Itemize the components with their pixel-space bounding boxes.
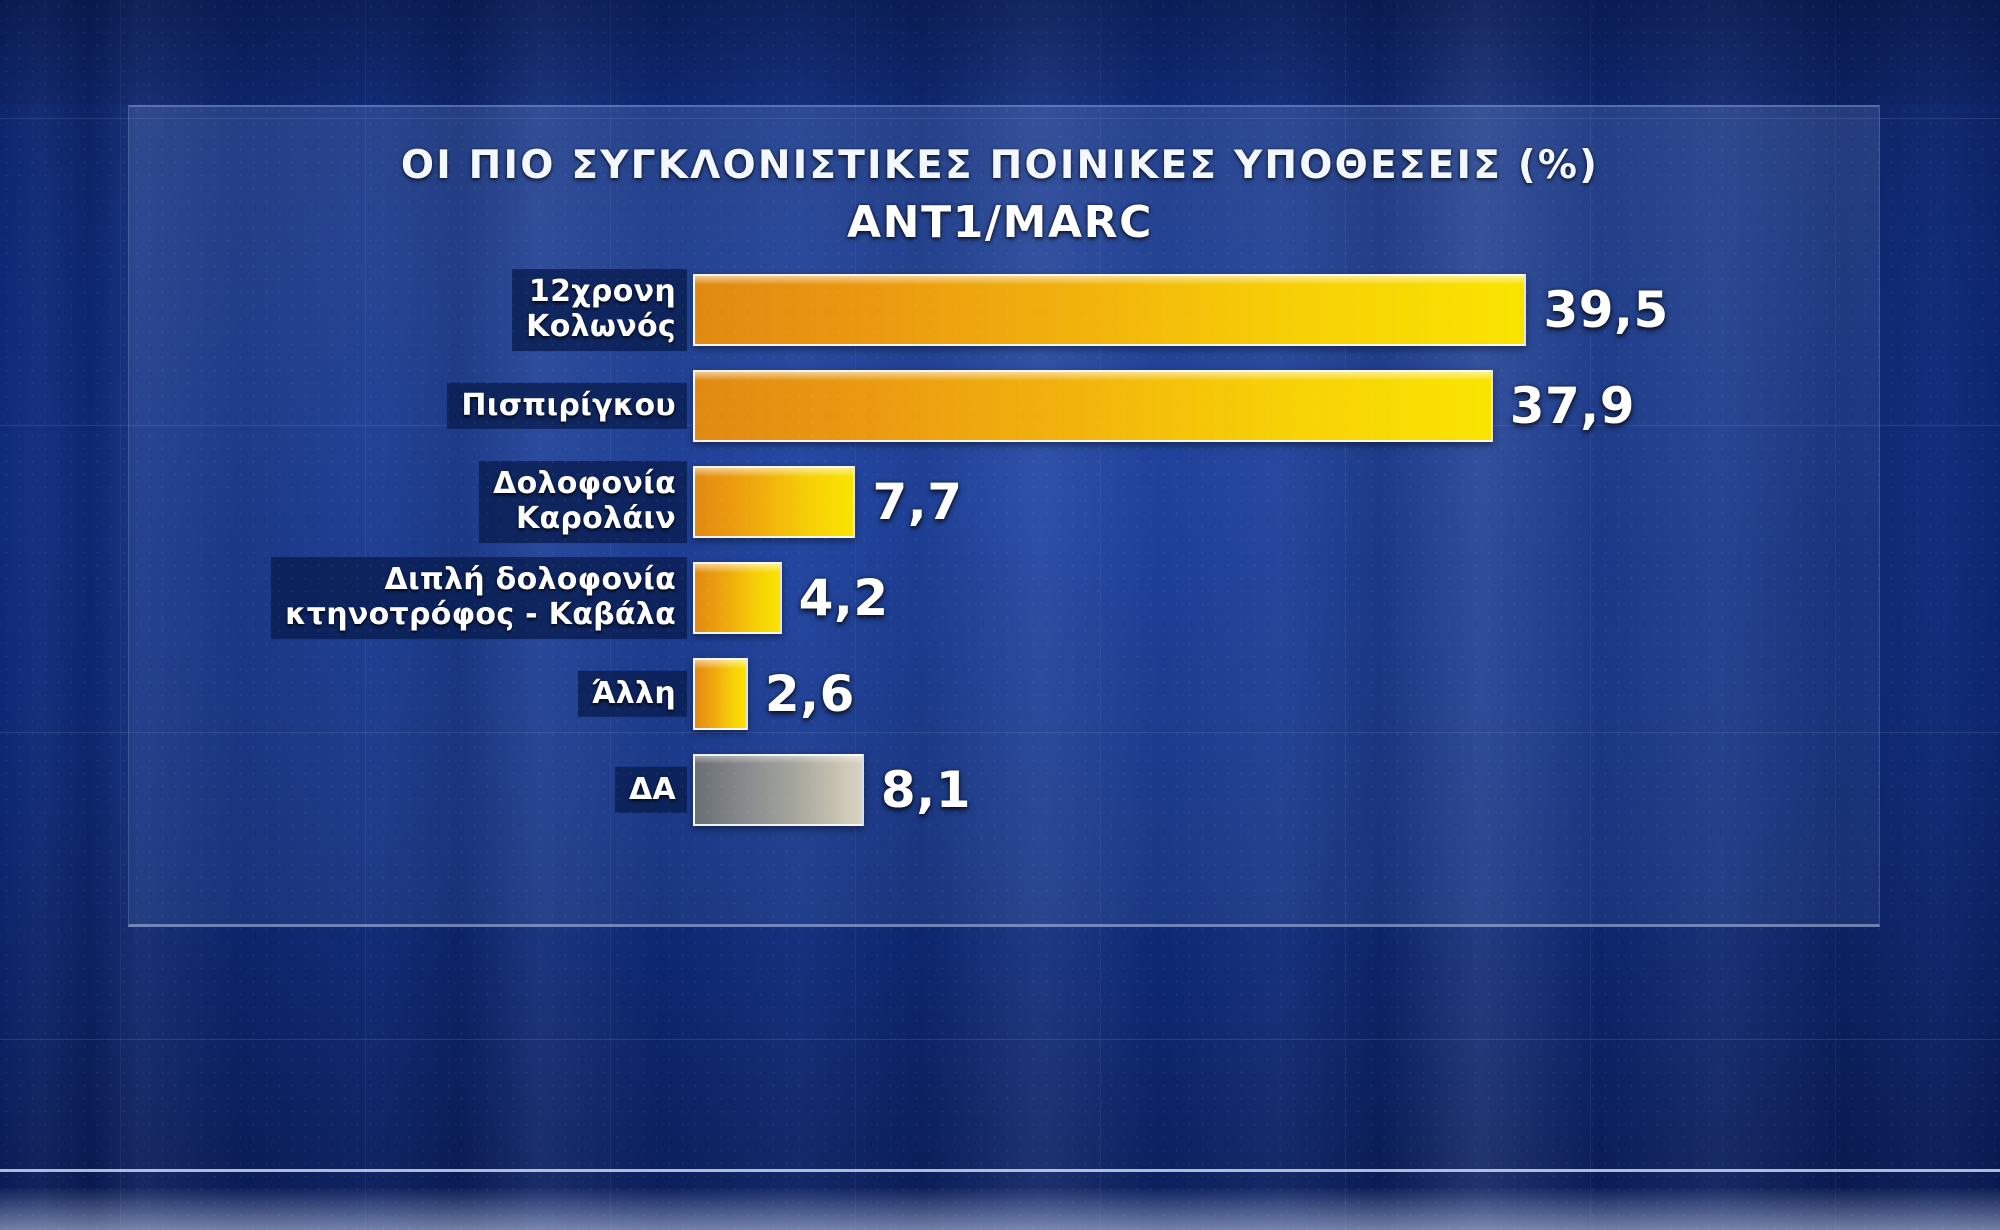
- bar-row: Άλλη 2,6: [0, 646, 2000, 742]
- bar-chart: ΟΙ ΠΙΟ ΣΥΓΚΛΟΝΙΣΤΙΚΕΣ ΠΟΙΝΙΚΕΣ ΥΠΟΘΕΣΕΙΣ…: [0, 0, 2000, 1230]
- bar-track: 4,2: [693, 550, 889, 646]
- chart-title: ΟΙ ΠΙΟ ΣΥΓΚΛΟΝΙΣΤΙΚΕΣ ΠΟΙΝΙΚΕΣ ΥΠΟΘΕΣΕΙΣ…: [0, 143, 2000, 188]
- bar-track: 37,9: [693, 358, 1635, 454]
- bar-fill: [693, 562, 782, 634]
- bar-track: 8,1: [693, 742, 971, 838]
- bar-value-label: 4,2: [799, 569, 889, 627]
- bar-row: Διπλή δολοφονία κτηνοτρόφος - Καβάλα 4,2: [0, 550, 2000, 646]
- bar-value-label: 7,7: [872, 473, 962, 531]
- bar-value-label: 39,5: [1543, 281, 1668, 339]
- bar-category-label: Πισπιρίγκου: [447, 383, 687, 429]
- bar-category-label: Δολοφονία Καρολάιν: [479, 461, 687, 543]
- bar-fill: [693, 754, 864, 826]
- bar-track: 2,6: [693, 646, 855, 742]
- bar-value-label: 8,1: [881, 761, 971, 819]
- bar-category-label: ΔΑ: [615, 767, 687, 813]
- bar-track: 39,5: [693, 262, 1669, 358]
- bar-category-label: 12χρονη Κολωνός: [512, 269, 687, 351]
- bar-fill: [693, 466, 855, 538]
- chart-canvas: ΟΙ ΠΙΟ ΣΥΓΚΛΟΝΙΣΤΙΚΕΣ ΠΟΙΝΙΚΕΣ ΥΠΟΘΕΣΕΙΣ…: [0, 0, 2000, 1230]
- bar-value-label: 37,9: [1510, 377, 1635, 435]
- bar-row: ΔΑ 8,1: [0, 742, 2000, 838]
- bar-fill: [693, 274, 1526, 346]
- chart-subtitle-source: ANT1/MARC: [0, 197, 2000, 248]
- bar-row: Πισπιρίγκου 37,9: [0, 358, 2000, 454]
- bar-value-label: 2,6: [765, 665, 855, 723]
- bar-fill: [693, 370, 1493, 442]
- bar-category-label: Διπλή δολοφονία κτηνοτρόφος - Καβάλα: [271, 557, 687, 639]
- bar-row: Δολοφονία Καρολάιν 7,7: [0, 454, 2000, 550]
- bar-category-label: Άλλη: [578, 671, 687, 717]
- bar-rows: 12χρονη Κολωνός 39,5 Πισπιρίγκου 37,9 Δο…: [0, 262, 2000, 838]
- bar-track: 7,7: [693, 454, 963, 550]
- bar-row: 12χρονη Κολωνός 39,5: [0, 262, 2000, 358]
- bar-fill: [693, 658, 748, 730]
